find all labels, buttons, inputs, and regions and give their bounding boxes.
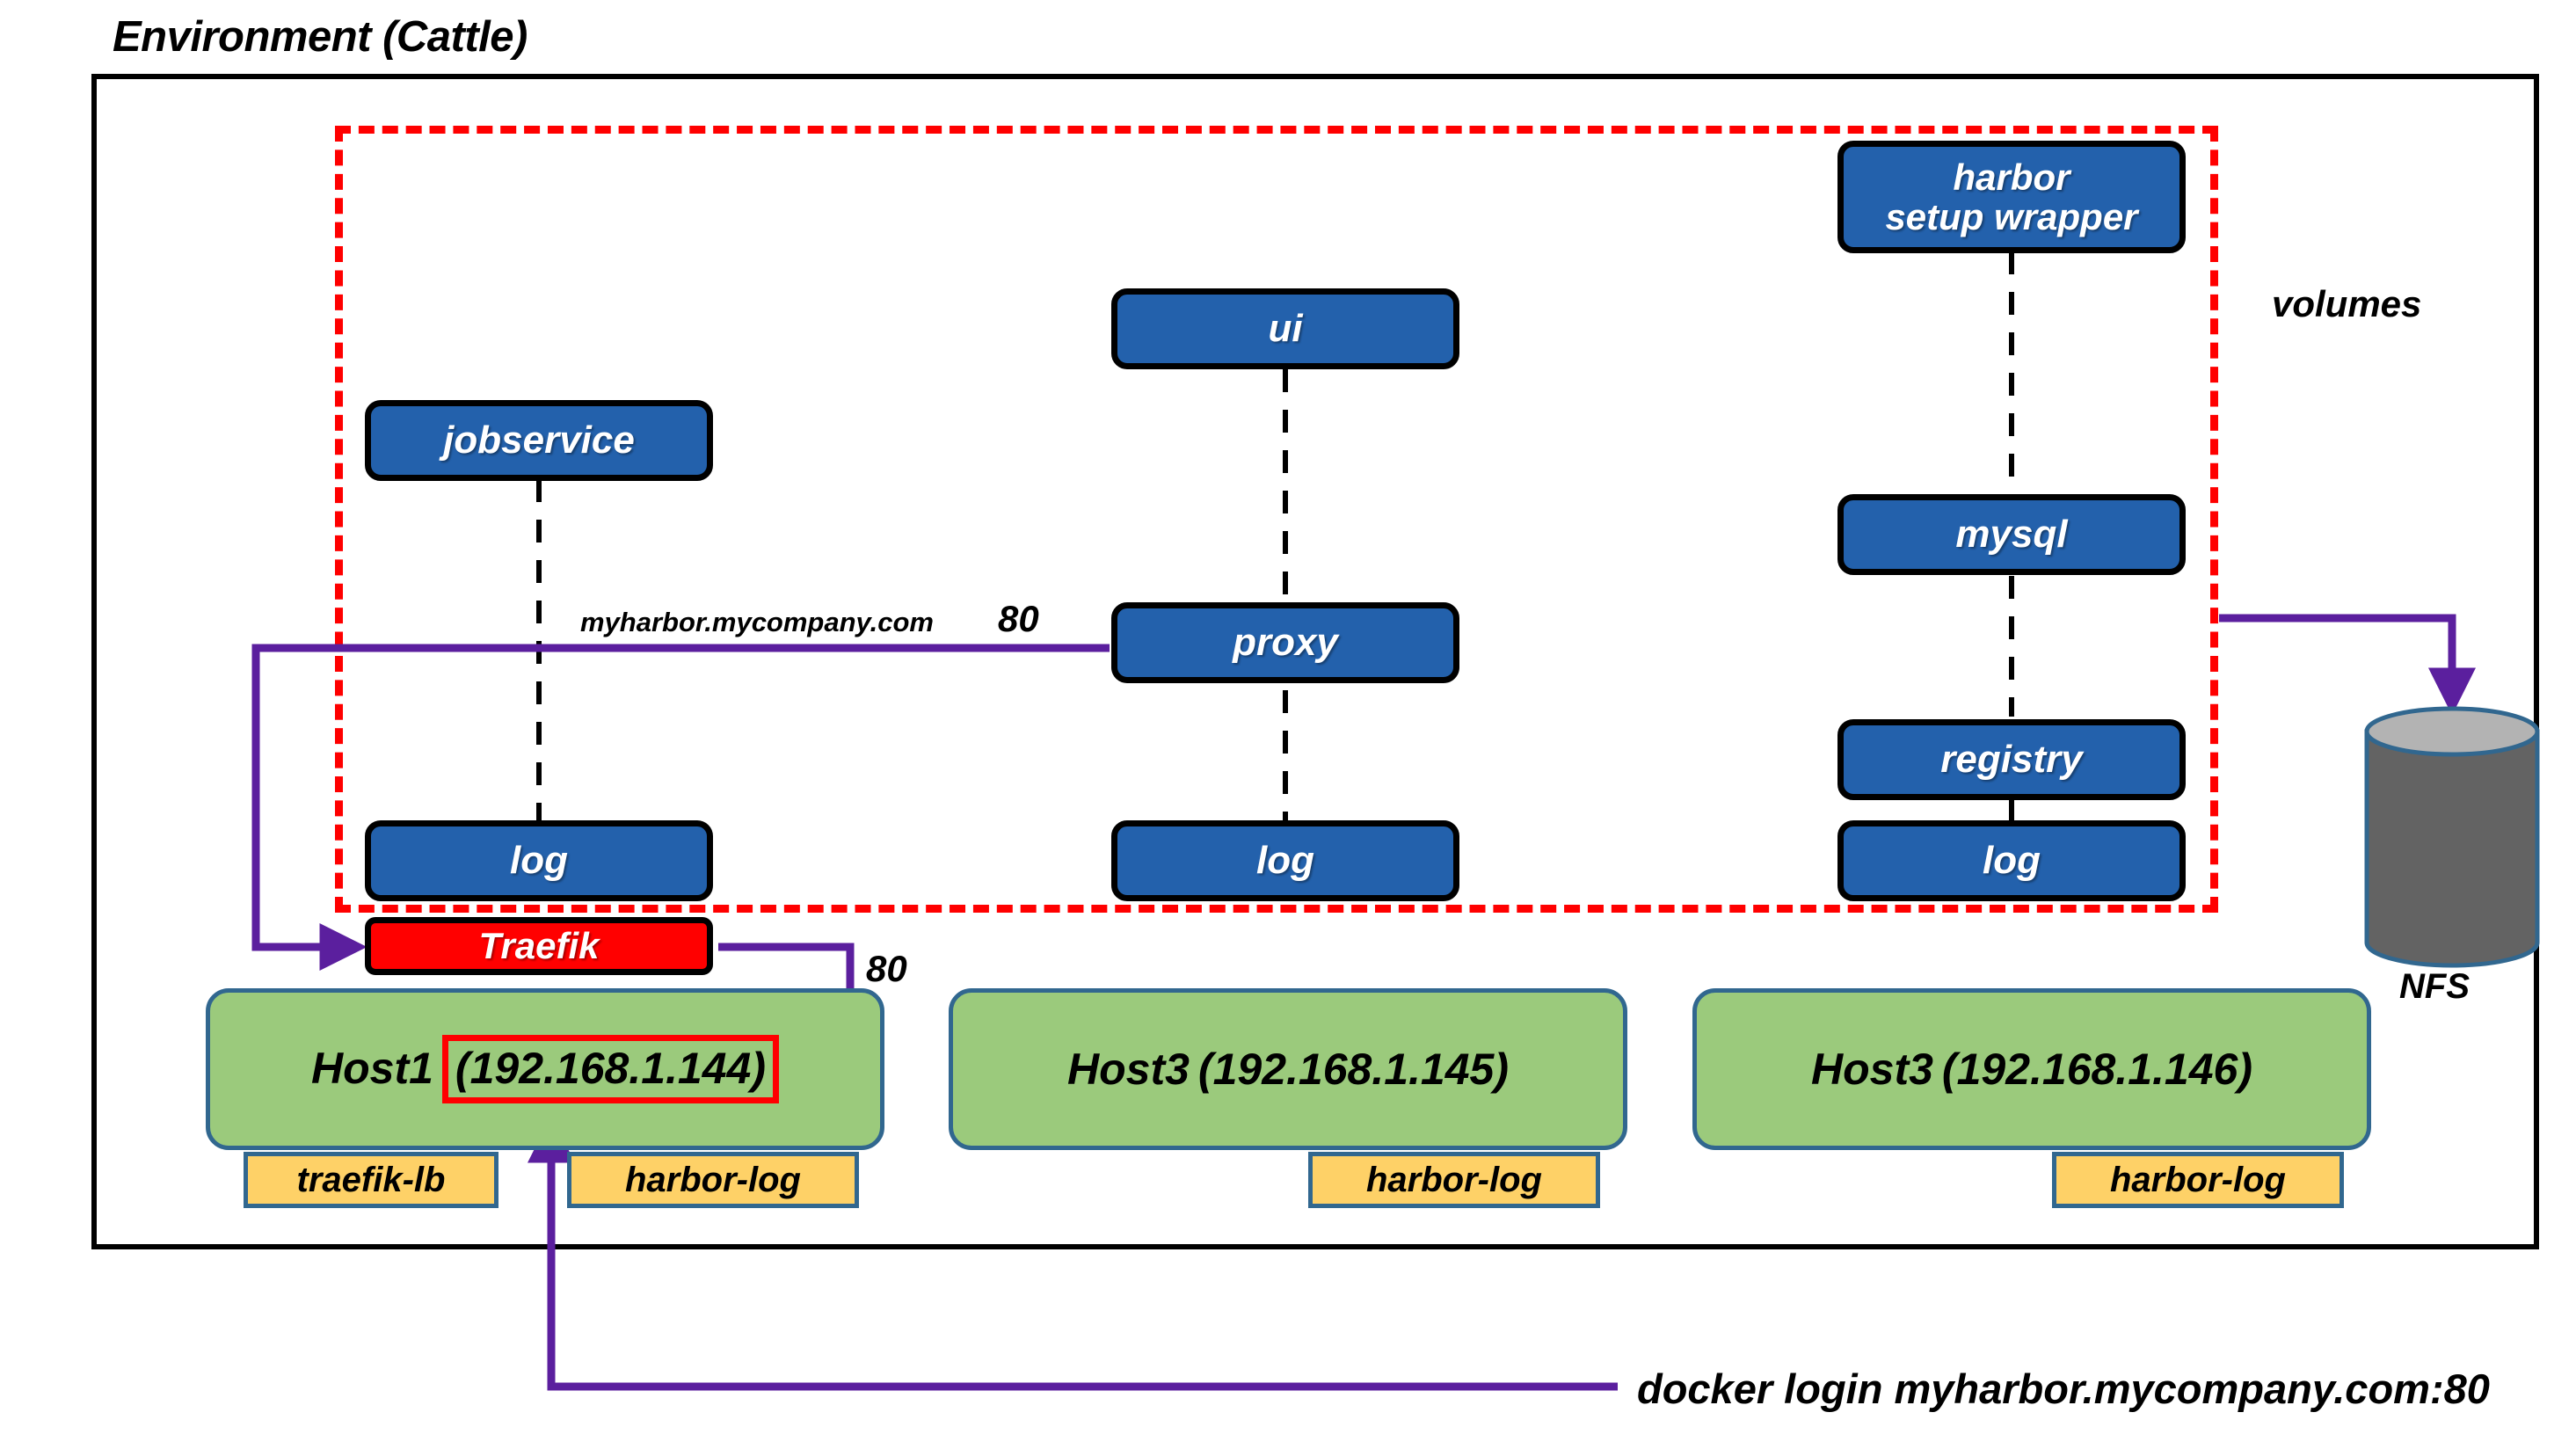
environment-title: Environment (Cattle) [113,12,528,62]
service-box-mysql[interactable]: mysql [1837,494,2186,575]
host-box-3[interactable]: Host3(192.168.1.146) [1692,988,2371,1150]
service-box-jobservice-log[interactable]: log [365,820,713,901]
host-box-2[interactable]: Host3(192.168.1.145) [949,988,1627,1150]
service-box-proxy[interactable]: proxy [1111,602,1459,683]
label-port-proxy: 80 [998,598,1039,640]
harbor-setup-wrapper-line1: harbor [1953,157,2070,197]
label-nfs: NFS [2399,967,2470,1007]
host-box-1[interactable]: Host1(192.168.1.144) [206,988,884,1150]
host1-label: Host1(192.168.1.144) [311,1035,779,1103]
harbor-setup-wrapper-line2: setup wrapper [1885,197,2137,237]
label-harbor-domain: myharbor.mycompany.com [580,607,934,638]
service-box-jobservice[interactable]: jobservice [365,400,713,481]
host2-name: Host3 [1067,1045,1190,1094]
host3-name: Host3 [1811,1045,1933,1094]
host2-ip: (192.168.1.145) [1198,1045,1509,1094]
label-docker-login-command: docker login myharbor.mycompany.com:80 [1637,1365,2490,1413]
label-port-traefik: 80 [866,948,907,990]
label-volumes: volumes [2272,283,2421,325]
diagram-canvas: Environment (Cattle) [0,0,2576,1449]
service-box-harbor-setup-wrapper[interactable]: harbor setup wrapper [1837,141,2186,253]
host3-ip: (192.168.1.146) [1942,1045,2252,1094]
host1-tag-harbor-log[interactable]: harbor-log [567,1152,859,1208]
service-box-proxy-log[interactable]: log [1111,820,1459,901]
host3-label: Host3(192.168.1.146) [1811,1044,2252,1095]
service-box-registry-log[interactable]: log [1837,820,2186,901]
service-box-registry[interactable]: registry [1837,719,2186,800]
host3-tag-harbor-log[interactable]: harbor-log [2052,1152,2344,1208]
traefik-box[interactable]: Traefik [365,917,713,975]
host1-ip-highlight: (192.168.1.144) [442,1035,779,1103]
host2-label: Host3(192.168.1.145) [1067,1044,1509,1095]
service-box-ui[interactable]: ui [1111,288,1459,369]
host1-name: Host1 [311,1044,433,1093]
host2-tag-harbor-log[interactable]: harbor-log [1308,1152,1600,1208]
host1-tag-traefik-lb[interactable]: traefik-lb [244,1152,498,1208]
